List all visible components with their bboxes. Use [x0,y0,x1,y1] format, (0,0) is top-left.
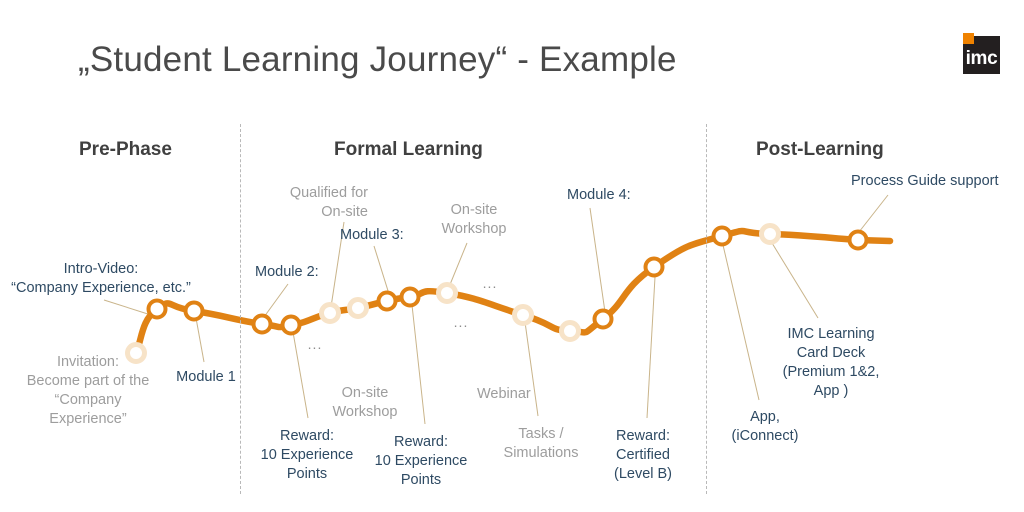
milestone-ring-icon [186,303,203,320]
annotation-invitation: Invitation: Become part of the “Company … [27,353,150,429]
annotation-tasks-simulations: Tasks / Simulations [504,425,579,463]
slide-canvas: „Student Learning Journey“ - Example imc… [0,0,1024,512]
milestone-ring-icon [595,311,612,328]
milestone-marker-14[interactable] [714,228,731,245]
annotation-module-4: Module 4: [567,186,631,205]
annotation-intro-video: Intro-Video: “Company Experience, etc.” [11,260,191,298]
ellipsis-marker-3: ... [454,314,469,330]
milestone-ring-icon [379,293,396,310]
milestone-marker-6[interactable] [350,300,367,317]
milestone-marker-16[interactable] [850,232,867,249]
leader-line-module-3 [374,246,389,294]
leader-line-module-4 [590,208,605,312]
milestone-ring-icon [149,301,166,318]
milestone-ring-icon [439,285,456,302]
milestone-ring-icon [322,305,339,322]
journey-line [136,231,858,353]
milestone-ring-icon [646,259,663,276]
annotation-on-site-workshop-2: On-site Workshop [332,384,397,422]
milestone-ring-icon [402,289,419,306]
milestone-marker-1[interactable] [149,301,166,318]
milestone-marker-10[interactable] [515,307,532,324]
annotation-module-2: Module 2: [255,263,319,282]
leader-line-module-1 [196,318,204,362]
annotation-module-3: Module 3: [340,226,404,245]
annotation-reward-1: Reward: 10 Experience Points [261,427,354,484]
leader-line-intro-video [104,300,151,315]
ellipsis-marker-1: ... [308,336,323,352]
leader-line-reward-certified [647,277,655,418]
milestone-ring-icon [762,226,779,243]
milestone-marker-13[interactable] [646,259,663,276]
phase-divider-1 [240,124,241,494]
leader-line-module-2 [264,284,288,317]
leader-line-app-iconnect [723,245,759,400]
annotation-app-iconnect: App, (iConnect) [732,408,799,446]
milestone-ring-icon [515,307,532,324]
milestone-ring-icon [283,317,300,334]
annotation-reward-2: Reward: 10 Experience Points [375,433,468,490]
milestone-marker-2[interactable] [186,303,203,320]
milestone-ring-icon [850,232,867,249]
milestone-ring-icon [562,323,579,340]
milestone-marker-11[interactable] [562,323,579,340]
annotation-process-guide-support: Process Guide support [851,172,999,191]
milestone-ring-icon [350,300,367,317]
leader-line-on-site-workshop-1 [449,243,467,287]
leader-line-reward-1 [293,332,308,418]
phase-header-formal-learning: Formal Learning [334,139,483,161]
leader-line-process-guide-support [859,195,888,232]
milestone-marker-3[interactable] [254,316,271,333]
leader-line-reward-2 [412,305,425,424]
milestone-marker-5[interactable] [322,305,339,322]
phase-divider-2 [706,124,707,494]
phase-header-pre-phase: Pre-Phase [79,139,172,161]
ellipsis-marker-2: ... [483,275,498,291]
milestone-marker-4[interactable] [283,317,300,334]
milestone-marker-9[interactable] [439,285,456,302]
annotation-reward-certified: Reward: Certified (Level B) [614,427,672,484]
annotation-qualified-on-site: Qualified for On-site [290,184,368,222]
annotation-imc-learning-card-deck: IMC Learning Card Deck (Premium 1&2, App… [783,325,880,401]
milestone-ring-icon [254,316,271,333]
annotation-on-site-workshop-1: On-site Workshop [441,201,506,239]
milestone-ring-icon [714,228,731,245]
milestone-marker-8[interactable] [402,289,419,306]
milestone-marker-15[interactable] [762,226,779,243]
phase-header-post-learning: Post-Learning [756,139,884,161]
leader-line-imc-learning-card-deck [772,243,818,318]
milestone-marker-7[interactable] [379,293,396,310]
annotation-webinar: Webinar [477,385,531,404]
milestone-marker-12[interactable] [595,311,612,328]
annotation-module-1: Module 1 [176,368,236,387]
